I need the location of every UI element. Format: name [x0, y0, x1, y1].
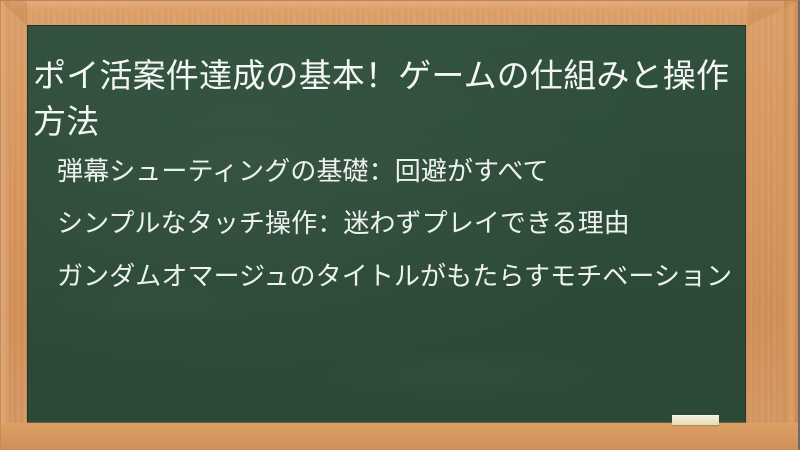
- table-of-contents: 弾幕シューティングの基礎：回避がすべて シンプルなタッチ操作：迷わずプレイできる…: [57, 153, 737, 310]
- frame-bevel-right: [784, 0, 798, 450]
- frame-bevel-left: [0, 0, 9, 450]
- eraser-icon: [672, 415, 719, 425]
- chalkboard-slide: ポイ活案件達成の基本！ゲームの仕組みと操作方法 弾幕シューティングの基礎：回避が…: [0, 0, 800, 450]
- chalkboard-surface: ポイ活案件達成の基本！ゲームの仕組みと操作方法 弾幕シューティングの基礎：回避が…: [27, 25, 746, 423]
- page-title: ポイ活案件達成の基本！ゲームの仕組みと操作方法: [33, 53, 733, 145]
- list-item: ガンダムオマージュのタイトルがもたらすモチベーション: [57, 258, 737, 294]
- frame-bevel-top: [0, 0, 800, 10]
- list-item: 弾幕シューティングの基礎：回避がすべて: [57, 153, 737, 189]
- list-item: シンプルなタッチ操作：迷わずプレイできる理由: [57, 205, 737, 241]
- frame-miter-top-right: [748, 0, 800, 26]
- frame-miter-top-left: [0, 0, 27, 26]
- chalk-ledge: [0, 423, 800, 450]
